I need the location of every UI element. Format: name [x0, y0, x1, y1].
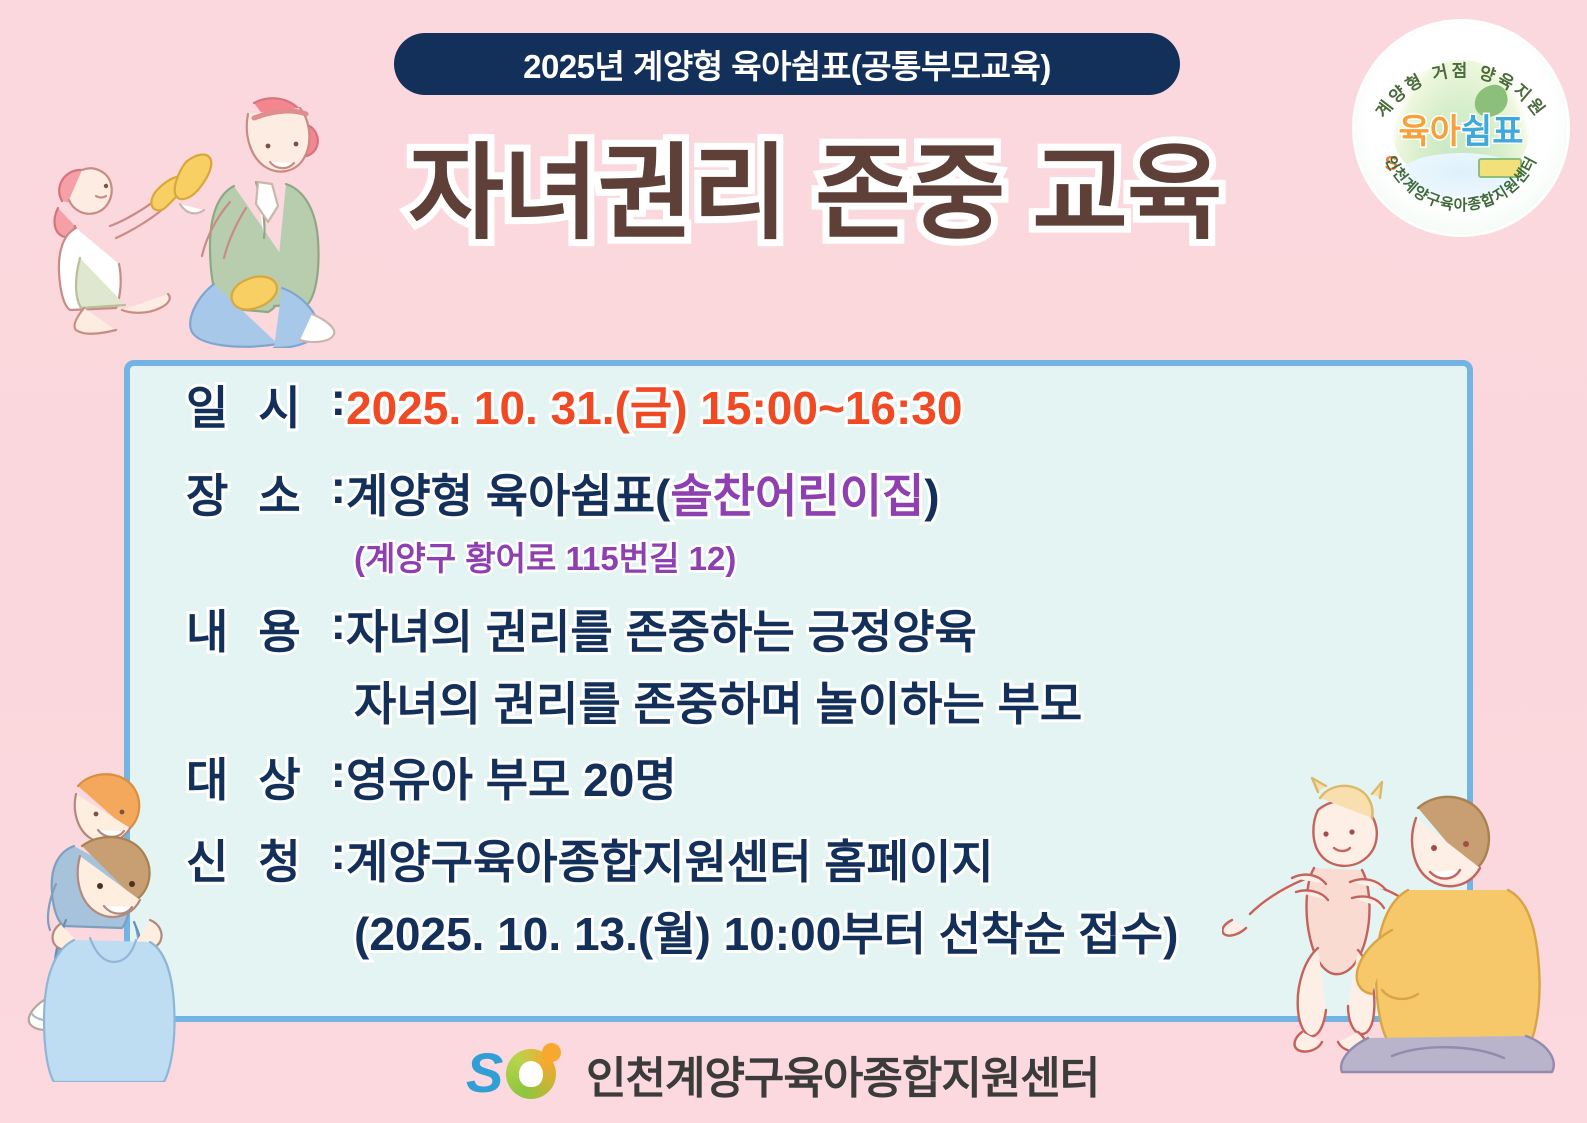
- info-row-content: 내 용 : 자녀의 권리를 존중하는 긍정양육: [186, 596, 1426, 662]
- father-child-shoulder-ride-illustration: [16, 742, 286, 1082]
- page-title: 자녀권리 존중 교육: [370, 118, 1260, 248]
- value-content-line2: 자녀의 권리를 존중하며 놀이하는 부모: [354, 668, 1426, 734]
- svg-text:인천계양구육아종합지원센터: 인천계양구육아종합지원센터: [1381, 153, 1540, 214]
- logo-dot-mark: [542, 1043, 561, 1062]
- yukasimpyo-logo: 계양형 거점 양육지원 육아쉼표 S 인천계양구육아종합지원센터: [1355, 22, 1567, 234]
- label-content: 내 용 :: [186, 596, 346, 662]
- info-row-datetime: 일 시 : 2025. 10. 31.(금) 15:00~16:30: [186, 372, 1426, 438]
- value-datetime: 2025. 10. 31.(금) 15:00~16:30: [346, 372, 962, 438]
- value-audience: 영유아 부모 20명: [346, 744, 677, 810]
- label-datetime: 일 시 :: [186, 372, 346, 438]
- footer-organization-logo: S 인천계양구육아종합지원센터: [466, 1042, 1099, 1106]
- value-place-prefix: 계양형 육아쉼표(: [346, 470, 670, 522]
- father-holding-baby-illustration: [1222, 752, 1572, 1082]
- logo-arc-bottom-text: 인천계양구육아종합지원센터: [1355, 22, 1567, 234]
- label-place: 장 소 :: [186, 460, 346, 526]
- value-place-highlight: 솔찬어린이집: [670, 470, 924, 522]
- mother-child-highfive-illustration: [18, 58, 368, 348]
- logo-letter-s: S: [466, 1045, 503, 1101]
- value-place: 계양형 육아쉼표(솔찬어린이집): [346, 460, 940, 526]
- value-place-suffix: ): [924, 470, 939, 522]
- value-place-address: (계양구 황어로 115번길 12): [354, 532, 1426, 580]
- center-logo-mark: S: [466, 1043, 570, 1105]
- value-application: 계양구육아종합지원센터 홈페이지: [346, 826, 994, 892]
- header-badge: 2025년 계양형 육아쉼표(공통부모교육): [394, 33, 1180, 95]
- footer-organization-name: 인천계양구육아종합지원센터: [586, 1042, 1099, 1106]
- info-row-place: 장 소 : 계양형 육아쉼표(솔찬어린이집): [186, 460, 1426, 526]
- value-content-line1: 자녀의 권리를 존중하는 긍정양육: [346, 596, 977, 662]
